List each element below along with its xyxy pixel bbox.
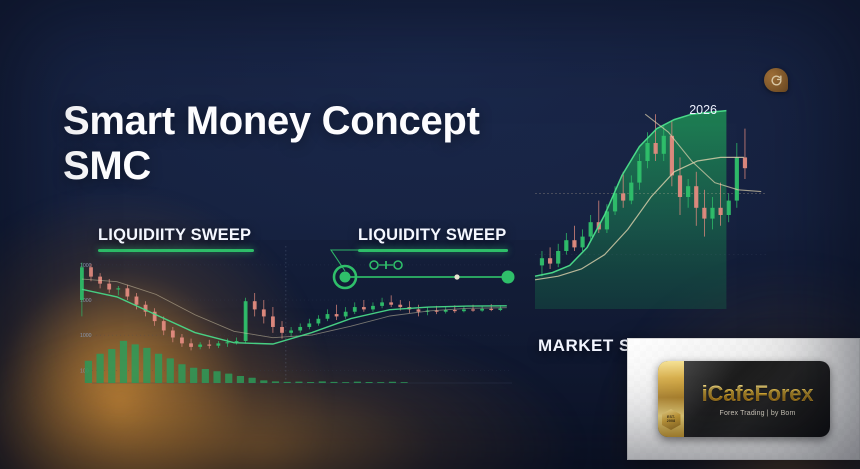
annotation-underline [358, 249, 508, 252]
logo-sheen [658, 361, 830, 437]
y-axis-tick-label: 1000 [80, 333, 92, 339]
page-title: Smart Money Concept SMC [63, 99, 533, 189]
growth-area [535, 111, 726, 309]
refresh-glyph [770, 74, 783, 87]
annotation-underline [98, 249, 254, 252]
annotation-liquidity-sweep-right: LIQUIDITY SWEEP [358, 226, 508, 252]
year-label: 2026 [689, 103, 717, 117]
brand-logo-card: EST. 2008 iCafeForex Forex Trading | by … [627, 338, 860, 460]
volume-bars [85, 341, 408, 383]
annotation-liquidity-sweep-right-label: LIQUIDITY SWEEP [358, 226, 508, 245]
annotation-liquidity-sweep-left-label: LIQUIDIITY SWEEP [98, 226, 254, 245]
annotation-liquidity-sweep-left: LIQUIDIITY SWEEP [98, 226, 254, 252]
promo-graphic: Smart Money Concept SMC 100010001000100 … [0, 0, 860, 469]
refresh-icon[interactable] [764, 68, 788, 92]
logo-plate: EST. 2008 iCafeForex Forex Trading | by … [658, 361, 830, 437]
market-structure-chart: 2026 [535, 88, 767, 313]
price-action-chart: 100010001000100 [78, 246, 512, 386]
page-title-line1: Smart Money Concept [63, 99, 480, 143]
page-title-line2: SMC [63, 144, 533, 189]
